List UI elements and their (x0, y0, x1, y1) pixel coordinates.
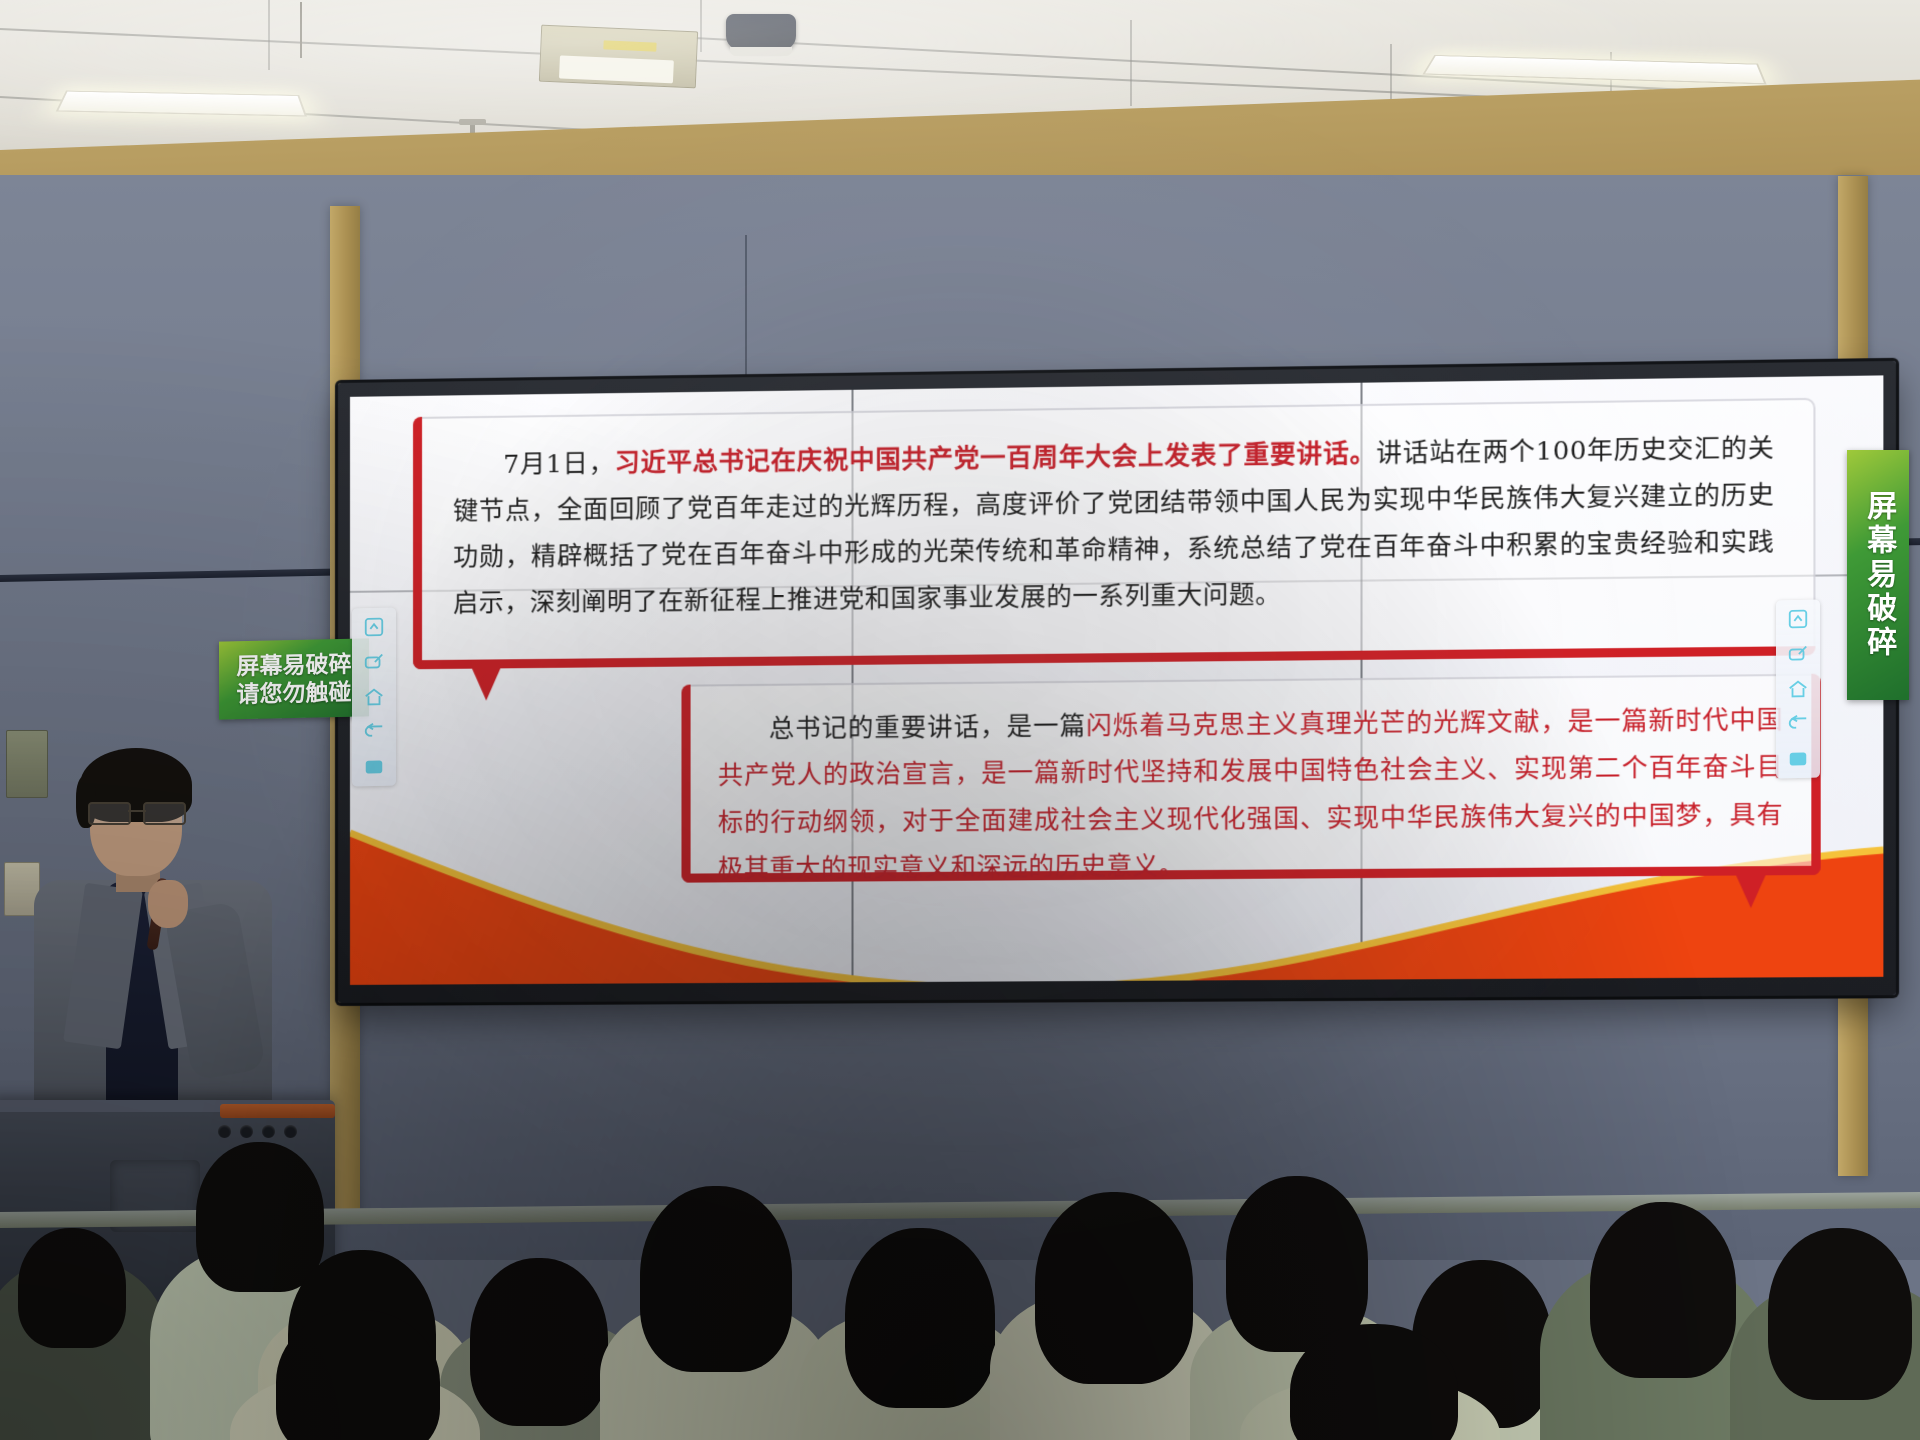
apps-icon[interactable] (361, 756, 387, 779)
display-annotation-toolbar-right[interactable] (1776, 600, 1820, 779)
warning-sign-line-2: 请您勿触碰 (237, 678, 352, 708)
home-icon[interactable] (361, 686, 387, 709)
video-wall-display[interactable]: 7月1日，习近平总书记在庆祝中国共产党一百周年大会上发表了重要讲话。讲话站在两个… (338, 361, 1896, 1003)
bubble-2-text: 总书记的重要讲话，是一篇闪烁着马克思主义真理光芒的光辉文献，是一篇新时代中国共产… (681, 674, 1820, 883)
bubble-2-lead: 总书记的重要讲话，是一篇 (768, 711, 1086, 743)
annotate-icon[interactable] (1785, 608, 1811, 631)
audience-member-head (1226, 1176, 1368, 1352)
audience-member-head (1590, 1202, 1736, 1378)
pen-icon[interactable] (1785, 643, 1811, 666)
slide-callout-bubble-1: 7月1日，习近平总书记在庆祝中国共产党一百周年大会上发表了重要讲话。讲话站在两个… (413, 397, 1816, 669)
lecture-hall-photo: 7月1日，习近平总书记在庆祝中国共产党一百周年大会上发表了重要讲话。讲话站在两个… (0, 0, 1920, 1440)
warning-sign-vertical-text: 屏幕易破碎 (1861, 490, 1896, 660)
led-panel-light-right (1422, 55, 1766, 84)
apps-icon[interactable] (1785, 748, 1811, 771)
audience-member-head (640, 1186, 792, 1372)
audience-member-head (845, 1228, 995, 1408)
screen-fragile-warning-sign-right: 屏幕易破碎 (1847, 450, 1909, 700)
audience-member-head (18, 1228, 126, 1348)
presentation-slide: 7月1日，习近平总书记在庆祝中国共产党一百周年大会上发表了重要讲话。讲话站在两个… (350, 375, 1883, 985)
eyeglasses-icon (88, 802, 186, 821)
audience-member-head (276, 1310, 440, 1440)
led-panel-light-left (56, 91, 307, 117)
screen-fragile-warning-sign-left: 屏幕易破碎 请您勿触碰 (219, 638, 369, 719)
audience-member-head (470, 1258, 608, 1426)
back-icon[interactable] (1785, 713, 1811, 736)
bubble-1-highlight: 习近平总书记在庆祝中国共产党一百周年大会上发表了重要讲话。 (615, 438, 1377, 477)
audience-member-head (1768, 1228, 1912, 1400)
slide-callout-bubble-2: 总书记的重要讲话，是一篇闪烁着马克思主义真理光芒的光辉文献，是一篇新时代中国共产… (681, 674, 1820, 883)
emergency-exit-light (539, 25, 698, 89)
ceiling-conduit (300, 2, 302, 58)
bubble-1-text: 7月1日，习近平总书记在庆祝中国共产党一百周年大会上发表了重要讲话。讲话站在两个… (413, 397, 1816, 669)
back-icon[interactable] (361, 721, 387, 744)
audience-seating (0, 1110, 1920, 1440)
warning-sign-line-1: 屏幕易破碎 (237, 650, 352, 680)
home-icon[interactable] (1785, 678, 1811, 701)
presenter (28, 730, 278, 1150)
bubble-1-date: 7月1日， (503, 448, 614, 479)
presenter-hand (148, 880, 188, 928)
annotate-icon[interactable] (361, 616, 387, 639)
audience-member-head (196, 1142, 324, 1292)
pen-icon[interactable] (361, 651, 387, 674)
audience-member-head (1035, 1192, 1193, 1384)
display-annotation-toolbar-left[interactable] (352, 608, 396, 787)
smoke-detector-dome (726, 14, 796, 50)
bubble-tail (471, 667, 501, 701)
bubble-tail (1735, 873, 1766, 908)
